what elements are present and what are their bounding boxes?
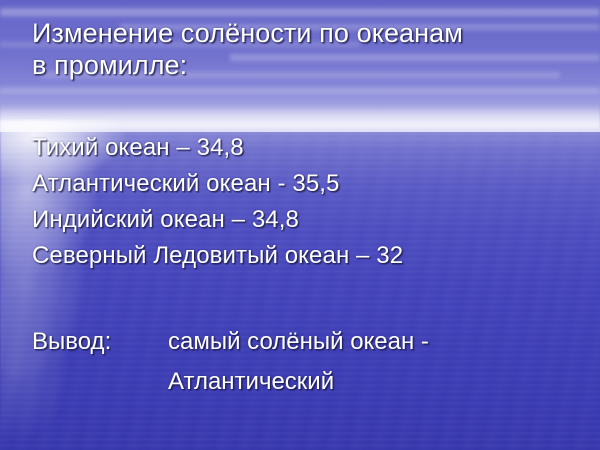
list-item: Индийский океан – 34,8 (32, 202, 580, 238)
list-item: Тихий океан – 34,8 (32, 130, 580, 166)
presentation-slide: Изменение солёности по океанам в промилл… (0, 0, 600, 450)
list-item: Атлантический океан - 35,5 (32, 166, 580, 202)
slide-content: Изменение солёности по океанам в промилл… (0, 0, 600, 450)
conclusion-label: Вывод: (32, 322, 168, 362)
conclusion-text-line-2: Атлантический (168, 362, 334, 402)
conclusion-text-line-1: самый солёный океан - (168, 322, 429, 362)
salinity-list: Тихий океан – 34,8 Атлантический океан -… (32, 130, 580, 274)
conclusion-row-primary: Вывод: самый солёный океан - (32, 322, 580, 362)
conclusion-row-secondary: Атлантический (32, 362, 580, 402)
slide-title: Изменение солёности по океанам в промилл… (32, 17, 572, 81)
conclusion-block: Вывод: самый солёный океан - Атлантическ… (32, 322, 580, 402)
list-item: Северный Ледовитый океан – 32 (32, 238, 580, 274)
